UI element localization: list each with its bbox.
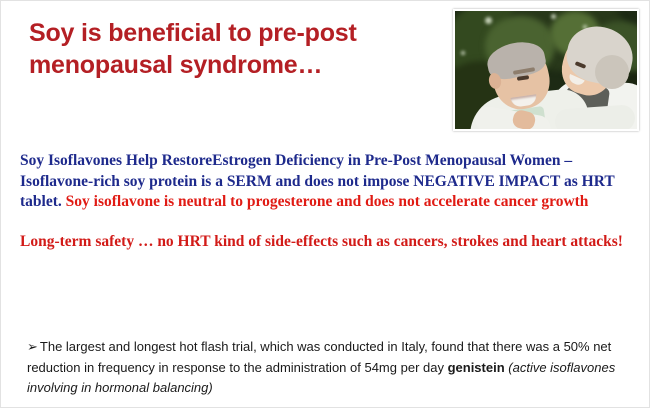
- woman-hair-bun: [595, 55, 629, 89]
- photo-elderly-couple: [453, 9, 639, 131]
- title-line-2: menopausal syndrome…: [29, 49, 439, 81]
- light-sparkle: [485, 17, 492, 24]
- bullet-text-genistein: genistein: [448, 360, 505, 375]
- body-text-block: Soy Isoflavones Help RestoreEstrogen Def…: [20, 151, 634, 252]
- woman-arm: [554, 104, 636, 129]
- slide-canvas: Soy is beneficial to pre-post menopausal…: [0, 0, 650, 408]
- bullet-block: ➢The largest and longest hot flash trial…: [27, 337, 627, 398]
- page-title: Soy is beneficial to pre-post menopausal…: [29, 17, 439, 81]
- light-sparkle: [461, 51, 465, 55]
- bullet-item-hot-flash-trial: ➢The largest and longest hot flash trial…: [27, 337, 627, 398]
- paragraph-isoflavones: Soy Isoflavones Help RestoreEstrogen Def…: [20, 151, 634, 213]
- paragraph-1-red: Soy isoflavone is neutral to progesteron…: [66, 193, 589, 210]
- arrow-bullet-icon: ➢: [27, 340, 40, 355]
- light-sparkle: [551, 14, 556, 19]
- photo-content: [455, 11, 637, 129]
- paragraph-long-term-safety: Long-term safety … no HRT kind of side-e…: [20, 232, 634, 253]
- title-line-1: Soy is beneficial to pre-post: [29, 17, 439, 49]
